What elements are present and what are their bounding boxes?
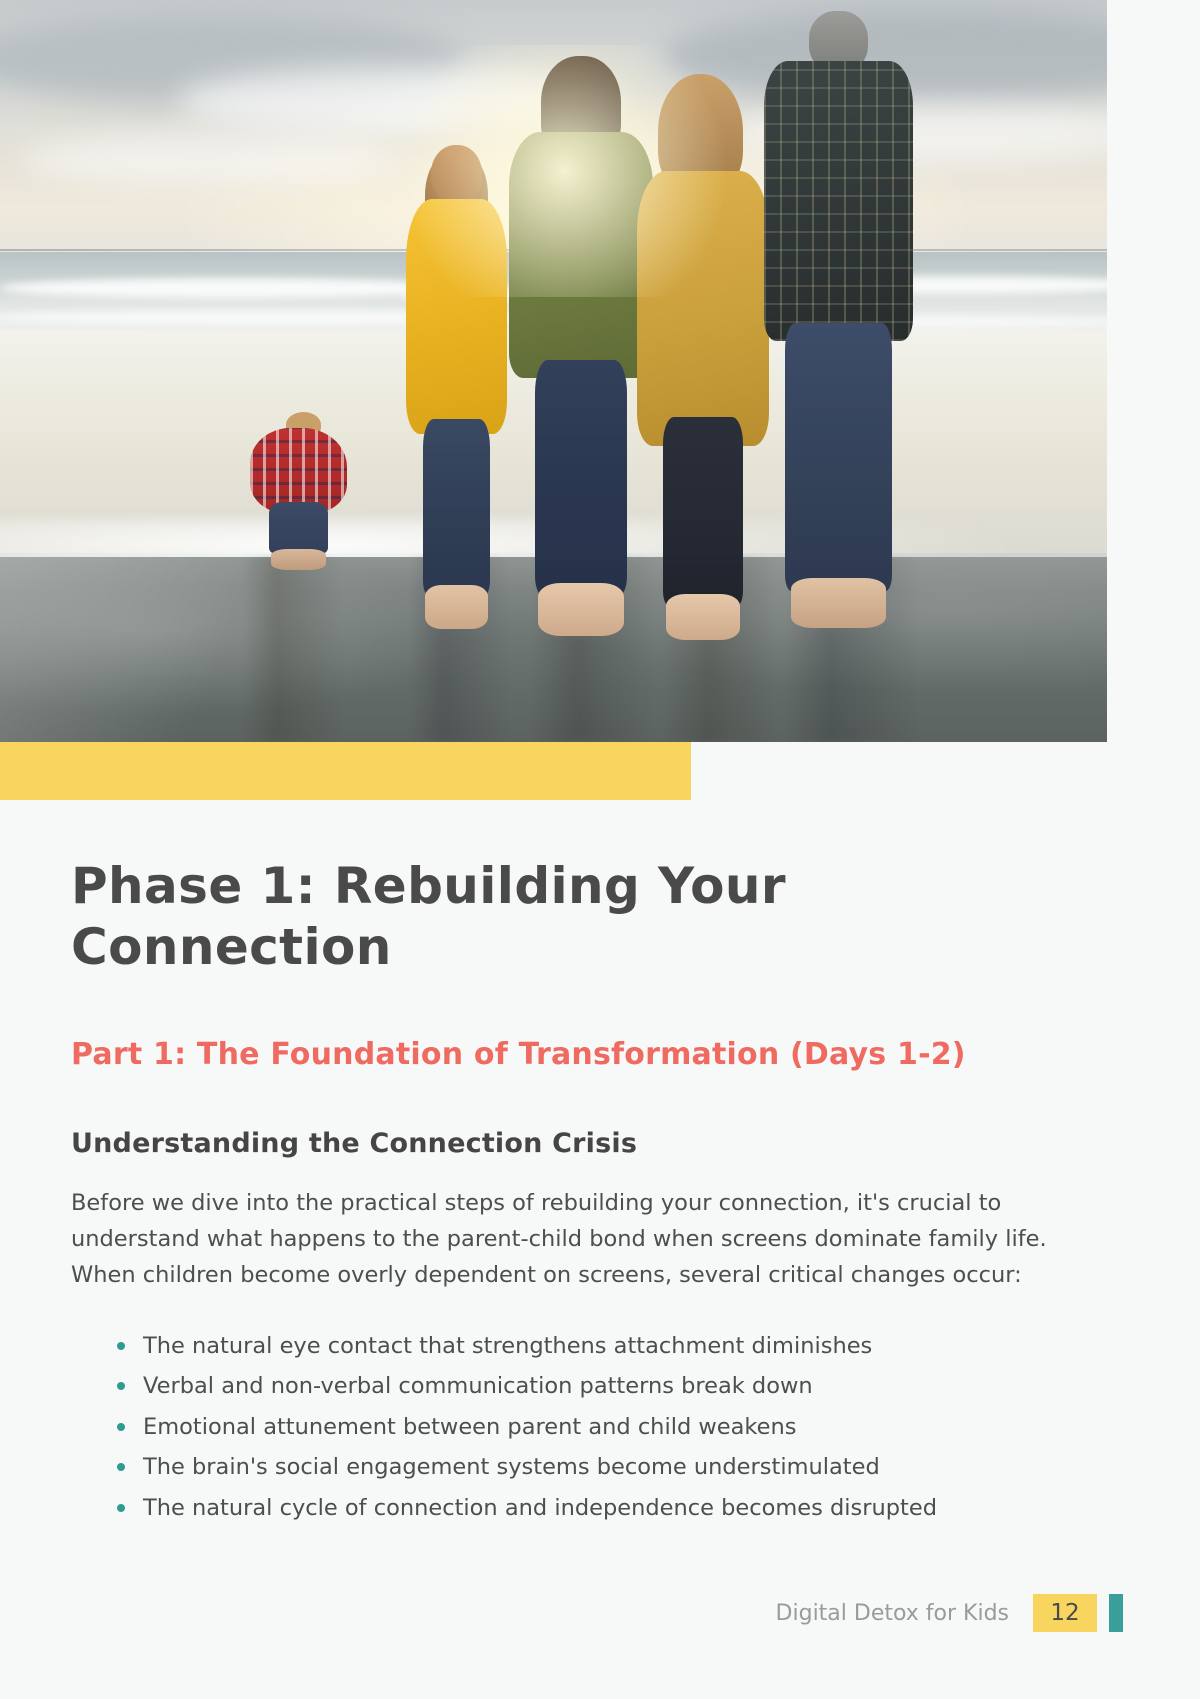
teen-feet bbox=[666, 594, 740, 640]
list-item-label: Verbal and non-verbal communication patt… bbox=[143, 1373, 813, 1399]
mother-olive-sweater bbox=[509, 132, 653, 378]
list-item: The brain's social engagement systems be… bbox=[117, 1449, 1081, 1485]
father-plaid-shirt bbox=[764, 61, 913, 341]
page-content: Phase 1: Rebuilding Your Connection Part… bbox=[71, 856, 1081, 1530]
list-item-label: The natural eye contact that strengthens… bbox=[143, 1333, 872, 1359]
section-heading: Understanding the Connection Crisis bbox=[71, 1126, 1081, 1161]
list-item: The natural eye contact that strengthens… bbox=[117, 1328, 1081, 1364]
mother-jeans bbox=[535, 360, 627, 594]
figure-mother bbox=[509, 56, 653, 642]
bullet-list: The natural eye contact that strengthens… bbox=[71, 1328, 1081, 1526]
list-item: Verbal and non-verbal communication patt… bbox=[117, 1368, 1081, 1404]
bullet-dot-icon bbox=[117, 1423, 125, 1431]
footer-book-title: Digital Detox for Kids bbox=[776, 1601, 1009, 1626]
bullet-dot-icon bbox=[117, 1504, 125, 1512]
hero-photo bbox=[0, 0, 1107, 742]
father-jeans bbox=[785, 323, 893, 591]
girl-yellow-coat bbox=[406, 199, 507, 434]
girl-feet bbox=[425, 585, 488, 629]
surf-wave bbox=[0, 278, 465, 297]
bullet-dot-icon bbox=[117, 1463, 125, 1471]
figure-father bbox=[764, 11, 913, 634]
bullet-dot-icon bbox=[117, 1382, 125, 1390]
child-feet bbox=[271, 549, 326, 570]
yellow-accent-bar bbox=[0, 742, 691, 800]
page-title: Phase 1: Rebuilding Your Connection bbox=[71, 856, 1081, 978]
list-item-label: Emotional attunement between parent and … bbox=[143, 1414, 796, 1440]
cloud-shape bbox=[22, 134, 398, 186]
teen-mustard-cardigan bbox=[637, 171, 770, 445]
page-number-badge: 12 bbox=[1033, 1594, 1097, 1632]
teen-jeans bbox=[663, 417, 743, 606]
list-item: Emotional attunement between parent and … bbox=[117, 1409, 1081, 1445]
child-jeans bbox=[269, 502, 328, 554]
list-item: The natural cycle of connection and inde… bbox=[117, 1490, 1081, 1526]
teal-accent-bar bbox=[1109, 1594, 1123, 1632]
document-page: Phase 1: Rebuilding Your Connection Part… bbox=[0, 0, 1200, 1699]
mother-feet bbox=[538, 583, 624, 636]
body-paragraph: Before we dive into the practical steps … bbox=[71, 1185, 1081, 1294]
girl-head bbox=[431, 145, 481, 204]
father-feet bbox=[791, 578, 887, 628]
girl-jeans bbox=[423, 419, 490, 595]
list-item-label: The natural cycle of connection and inde… bbox=[143, 1495, 937, 1521]
list-item-label: The brain's social engagement systems be… bbox=[143, 1454, 880, 1480]
figure-girl-mustard-cardigan bbox=[637, 74, 770, 645]
child-plaid-jacket bbox=[250, 428, 347, 513]
figure-girl-yellow-coat bbox=[404, 145, 509, 635]
bullet-dot-icon bbox=[117, 1342, 125, 1350]
page-footer: Digital Detox for Kids 12 bbox=[0, 1593, 1123, 1633]
part-subtitle: Part 1: The Foundation of Transformation… bbox=[71, 1036, 1081, 1074]
figure-crouching-child bbox=[246, 412, 351, 575]
